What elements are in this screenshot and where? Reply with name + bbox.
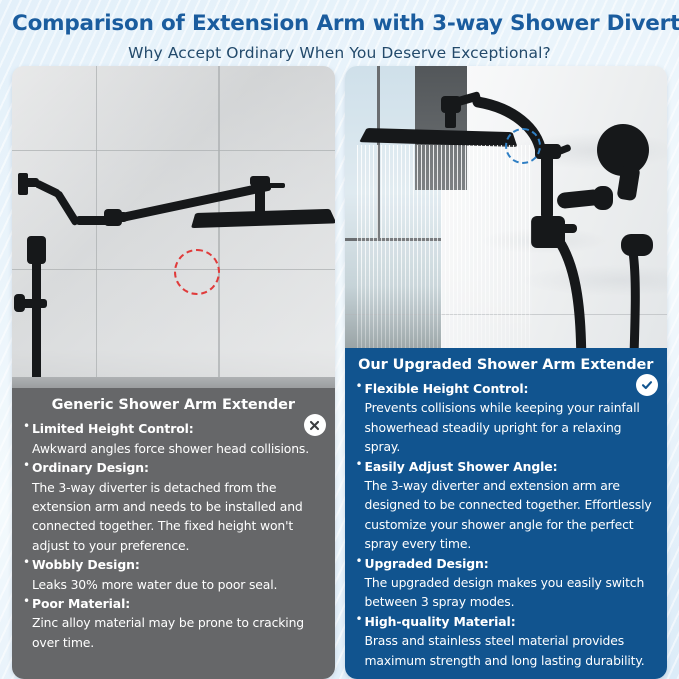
red-dashed-highlight-circle [174, 249, 220, 295]
feature-heading: Upgraded Design: [365, 556, 489, 571]
feature-text: Brass and stainless steel material provi… [365, 633, 645, 667]
feature-heading: High-quality Material: [365, 614, 516, 629]
generic-feature-list: • Limited Height Control: Awkward angles… [23, 418, 324, 651]
upgraded-product-photo [345, 66, 668, 348]
upgraded-panel-title: Our Upgraded Shower Arm Extender [356, 357, 657, 374]
water-spray [357, 145, 531, 348]
feature-text: The upgraded design makes you easily swi… [365, 575, 645, 609]
x-mark-icon [304, 414, 326, 436]
list-item: • Easily Adjust Shower Angle: The 3-way … [356, 456, 657, 553]
floor-line [12, 377, 335, 388]
feature-heading: Easily Adjust Shower Angle: [365, 459, 558, 474]
blue-dashed-highlight-circle [505, 128, 541, 164]
feature-text: Awkward angles force shower head collisi… [32, 441, 309, 456]
bullet-icon: • [23, 418, 32, 434]
feature-text: Leaks 30% more water due to poor seal. [32, 577, 277, 592]
comparison-column-upgraded: Our Upgraded Shower Arm Extender • Flexi… [345, 66, 668, 679]
feature-text: Prevents collisions while keeping your r… [365, 400, 640, 454]
page-subtitle: Why Accept Ordinary When You Deserve Exc… [12, 44, 667, 62]
list-item: • High-quality Material: Brass and stain… [356, 611, 657, 669]
feature-text: Zinc alloy material may be prone to crac… [32, 615, 304, 649]
feature-heading: Flexible Height Control: [365, 381, 529, 396]
generic-info-panel: Generic Shower Arm Extender • Limited He… [12, 388, 335, 679]
page-title: Comparison of Extension Arm with 3-way S… [12, 12, 667, 37]
bullet-icon: • [23, 593, 32, 609]
upgraded-info-panel: Our Upgraded Shower Arm Extender • Flexi… [345, 348, 668, 679]
feature-heading: Limited Height Control: [32, 421, 194, 436]
upgraded-feature-list: • Flexible Height Control: Prevents coll… [356, 378, 657, 669]
tile-wall-background [12, 66, 335, 388]
bullet-icon: • [356, 378, 365, 394]
comparison-column-generic: Generic Shower Arm Extender • Limited He… [12, 66, 335, 679]
feature-heading: Ordinary Design: [32, 460, 149, 475]
bullet-icon: • [23, 457, 32, 473]
feature-text: The 3-way diverter is detached from the … [32, 480, 303, 553]
list-item: • Poor Material: Zinc alloy material may… [23, 593, 324, 651]
list-item: • Limited Height Control: Awkward angles… [23, 418, 324, 457]
generic-panel-title: Generic Shower Arm Extender [23, 397, 324, 414]
feature-heading: Poor Material: [32, 596, 130, 611]
feature-heading: Wobbly Design: [32, 557, 140, 572]
bullet-icon: • [356, 611, 365, 627]
bullet-icon: • [23, 554, 32, 570]
list-item: • Upgraded Design: The upgraded design m… [356, 553, 657, 611]
list-item: • Wobbly Design: Leaks 30% more water du… [23, 554, 324, 593]
feature-text: The 3-way diverter and extension arm are… [365, 478, 652, 551]
generic-product-photo [12, 66, 335, 388]
bullet-icon: • [356, 456, 365, 472]
header: Comparison of Extension Arm with 3-way S… [0, 0, 679, 66]
list-item: • Ordinary Design: The 3-way diverter is… [23, 457, 324, 554]
comparison-container: Generic Shower Arm Extender • Limited He… [0, 66, 679, 679]
list-item: • Flexible Height Control: Prevents coll… [356, 378, 657, 456]
bullet-icon: • [356, 553, 365, 569]
check-mark-icon [636, 374, 658, 396]
